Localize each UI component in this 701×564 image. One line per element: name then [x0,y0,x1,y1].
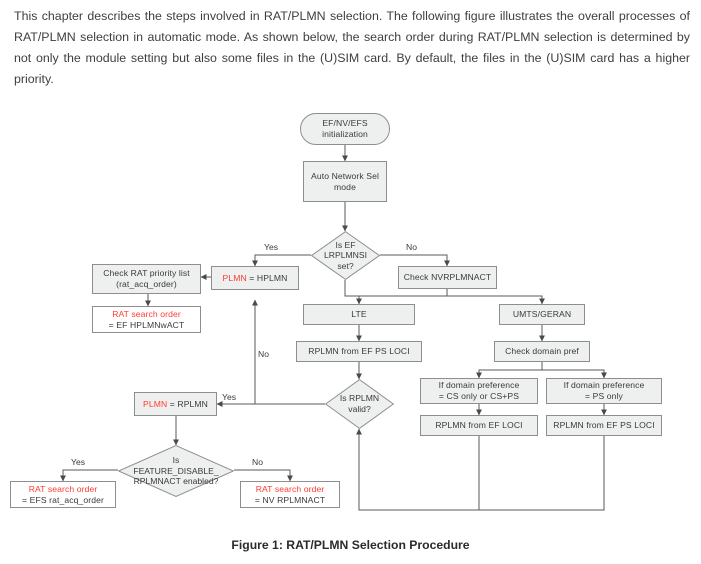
node-line: = PS only [550,391,658,402]
node-line: Is RPLMN [325,393,394,404]
node-line: LTE [307,309,411,320]
node-line: Check NVRPLMNACT [402,272,493,283]
node-text-red: PLMN [143,399,167,409]
node-line: LRPLMNSI [311,250,380,261]
node-line: RAT search order [14,484,112,495]
node-line: (rat_acq_order) [96,279,197,290]
node-line: If domain preference [424,380,534,391]
decision-is-ef-lrplmnsi-set[interactable]: Is EF LRPLMNSI set? [311,231,380,280]
node-domain-preference-cs[interactable]: If domain preference = CS only or CS+PS [420,378,538,404]
figure-caption: Figure 1: RAT/PLMN Selection Procedure [0,538,701,552]
node-line: RAT search order [244,484,336,495]
edge-label-lrplmnsi-no: No [406,242,417,252]
node-check-rat-priority-list[interactable]: Check RAT priority list (rat_acq_order) [92,264,201,294]
node-line: = NV RPLMNACT [244,495,336,506]
node-line: initialization [304,129,386,140]
decision-is-rplmn-valid[interactable]: Is RPLMN valid? [325,379,394,429]
node-line: Auto Network Sel [307,171,383,182]
edge-label-feature-no: No [252,457,263,467]
node-check-domain-pref[interactable]: Check domain pref [494,341,590,362]
node-line: Is [118,455,234,466]
intro-paragraph: This chapter describes the steps involve… [14,6,690,90]
node-line: valid? [325,404,394,415]
node-check-nvrplmnact[interactable]: Check NVRPLMNACT [398,266,497,289]
node-line: RAT search order [96,309,197,320]
node-lte[interactable]: LTE [303,304,415,325]
edge-label-rplmn-valid-no: No [258,349,269,359]
node-line: mode [307,182,383,193]
node-line: RPLMN from EF LOCI [424,420,534,431]
node-line: = EF HPLMNwACT [96,320,197,331]
node-line: UMTS/GERAN [503,309,581,320]
decision-is-feature-disable-rplmnact-enabled[interactable]: Is FEATURE_DISABLE_ RPLMNACT enabled? [118,445,234,497]
node-rat-search-order-nv-rplmnact[interactable]: RAT search order = NV RPLMNACT [240,481,340,508]
node-line: = EFS rat_acq_order [14,495,112,506]
node-line: EF/NV/EFS [304,118,386,129]
node-line: Check domain pref [498,346,586,357]
node-line: Check RAT priority list [96,268,197,279]
node-rplmn-from-ef-loci[interactable]: RPLMN from EF LOCI [420,415,538,436]
node-domain-preference-ps[interactable]: If domain preference = PS only [546,378,662,404]
flowchart-figure: EF/NV/EFS initialization Auto Network Se… [0,104,701,524]
node-ef-nv-efs-initialization[interactable]: EF/NV/EFS initialization [300,113,390,145]
node-rplmn-from-ef-ps-loci-right[interactable]: RPLMN from EF PS LOCI [546,415,662,436]
node-line: RPLMN from EF PS LOCI [300,346,418,357]
node-rplmn-from-ef-ps-loci-middle[interactable]: RPLMN from EF PS LOCI [296,341,422,362]
node-line: Is EF [311,240,380,251]
node-text-red: PLMN [223,273,247,283]
node-plmn-equals-hplmn[interactable]: PLMN = HPLMN [211,266,299,290]
node-line: set? [311,261,380,272]
node-umts-geran[interactable]: UMTS/GERAN [499,304,585,325]
node-line: If domain preference [550,380,658,391]
node-rat-search-order-ef-hplmnwact[interactable]: RAT search order = EF HPLMNwACT [92,306,201,333]
edge-label-lrplmnsi-yes: Yes [264,242,278,252]
edge-label-feature-yes: Yes [71,457,85,467]
node-text-black: = RPLMN [167,399,208,409]
node-line: = CS only or CS+PS [424,391,534,402]
edge-label-rplmn-valid-yes: Yes [222,392,236,402]
node-auto-network-sel-mode[interactable]: Auto Network Sel mode [303,161,387,202]
node-text-black: = HPLMN [247,273,288,283]
node-line: FEATURE_DISABLE_ [118,466,234,477]
node-line: RPLMN from EF PS LOCI [550,420,658,431]
node-plmn-equals-rplmn[interactable]: PLMN = RPLMN [134,392,217,416]
node-line: RPLMNACT enabled? [118,476,234,487]
node-rat-search-order-efs-rat-acq-order[interactable]: RAT search order = EFS rat_acq_order [10,481,116,508]
